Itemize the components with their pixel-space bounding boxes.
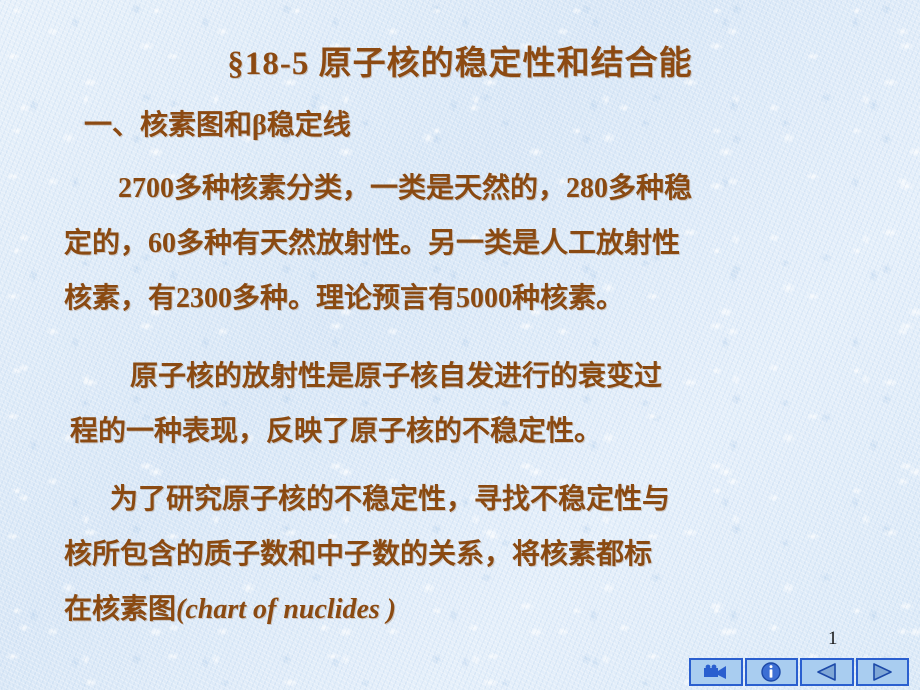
page-number: 1 [828, 628, 838, 650]
body-line: 为了研究原子核的不稳定性，寻找不稳定性与 [110, 477, 670, 517]
chart-of-nuclides-term: (chart of nuclides ) [176, 594, 396, 625]
next-button[interactable] [856, 658, 910, 686]
body-line: 程的一种表现，反映了原子核的不稳定性。 [70, 409, 602, 449]
triangle-right-icon [870, 663, 894, 681]
body-line: 核素，有2300多种。理论预言有5000种核素。 [64, 276, 624, 316]
movie-camera-icon [703, 664, 729, 680]
navigation-bar [689, 658, 909, 686]
info-circle-icon [761, 662, 781, 682]
info-button[interactable] [745, 658, 799, 686]
slide-canvas: §18-5 原子核的稳定性和结合能 一、核素图和β稳定线 2700多种核素分类，… [0, 0, 920, 690]
body-line: 定的，60多种有天然放射性。另一类是人工放射性 [64, 221, 680, 261]
body-line-with-latin: 在核素图(chart of nuclides ) [64, 587, 396, 627]
section-heading: 一、核素图和β稳定线 [84, 103, 351, 143]
triangle-left-icon [815, 663, 839, 681]
body-line: 2700多种核素分类，一类是天然的，280多种稳 [118, 166, 692, 206]
page-title: §18-5 原子核的稳定性和结合能 [0, 36, 920, 84]
movie-button[interactable] [689, 658, 743, 686]
previous-button[interactable] [800, 658, 854, 686]
body-line: 核所包含的质子数和中子数的关系，将核素都标 [64, 532, 652, 572]
body-line: 原子核的放射性是原子核自发进行的衰变过 [130, 354, 662, 394]
body-line-prefix: 在核素图 [64, 594, 176, 625]
